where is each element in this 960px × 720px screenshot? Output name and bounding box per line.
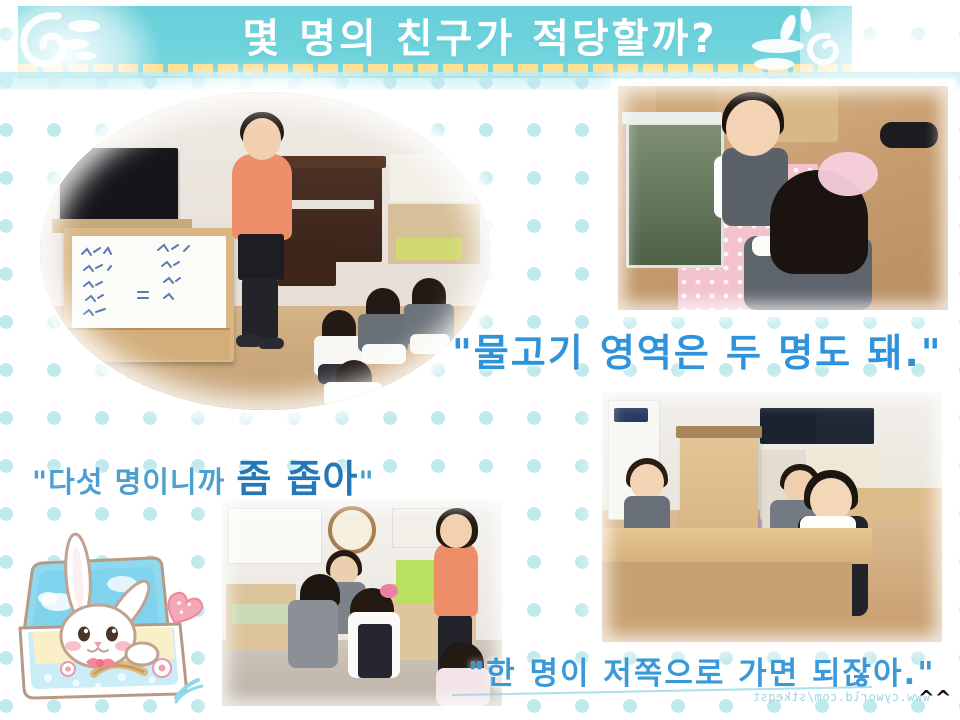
photo-classroom-piano-top (280, 156, 386, 168)
title-banner: 몇 명의 친구가 적당할까? (0, 0, 960, 90)
caption-five-quote-close: " (359, 465, 375, 499)
photo-fishtank-aquarium (626, 122, 724, 268)
photo-classroom-teacher-legs (242, 278, 278, 340)
photo-books-teacher-head (440, 514, 472, 548)
page-canvas: 몇 명의 친구가 적당할까? (0, 0, 960, 720)
photo-classroom-tv (60, 148, 178, 220)
caption-five-part1: "다섯 명이니까 (32, 465, 236, 499)
photo-counter-ac-panel (614, 408, 648, 422)
photo-classroom-whiteboard-base (68, 328, 230, 360)
smiley-icon: ^^ (918, 686, 952, 710)
photo-classroom-piano-keys (290, 200, 374, 209)
photo-counter-countertop (602, 528, 872, 564)
photo-counter-chalkboard (816, 408, 874, 444)
photo-books-teacher-body (434, 542, 478, 616)
photo-books-poster (228, 508, 322, 564)
photo-books (222, 500, 502, 706)
photo-classroom-teacher-body (232, 154, 292, 240)
photo-classroom-shelf-books (396, 238, 462, 260)
page-title: 몇 명의 친구가 적당할까? (0, 8, 960, 70)
photo-books-child-body (288, 600, 338, 668)
bunny-in-suitcase-sticker (2, 528, 222, 714)
photo-counter-counter-front (602, 562, 852, 616)
photo-counter-child-head (630, 464, 664, 500)
photo-classroom-wall-papers (390, 154, 474, 202)
photo-counter (602, 392, 942, 642)
photo-books-hair-bow (380, 584, 398, 598)
photo-classroom-teacher-head (243, 118, 281, 160)
photo-fishtank-adult-shoe (880, 122, 938, 148)
photo-classroom-whiteboard-writing (76, 240, 222, 324)
caption-fish-area: "물고기 영역은 두 명도 돼." (452, 322, 943, 377)
photo-classroom-teacher-skirt (238, 234, 284, 280)
photo-fishtank-aquarium-lid (622, 112, 722, 124)
photo-counter-divider-top (676, 426, 762, 438)
photo-fishtank-hair-bow (818, 152, 878, 196)
photo-fishtank-child-head (726, 100, 780, 156)
watermark-text: www.cyworld.com/stkeqst (700, 690, 930, 708)
photo-books-child-overalls (358, 624, 392, 678)
photo-books-wall-clock (328, 506, 376, 554)
caption-five-emphasis: 좀 좁아 (236, 457, 358, 501)
photo-classroom (40, 92, 490, 410)
photo-fishtank (618, 86, 948, 310)
photo-classroom-teacher-shoe (258, 338, 284, 349)
photo-books-bookshelf-books (232, 604, 290, 624)
photo-counter-side-table (850, 488, 942, 520)
photo-classroom-child (320, 360, 390, 406)
photo-classroom-piano-bench (278, 242, 336, 286)
caption-five-children: "다섯 명이니까 좀 좁아" (32, 448, 375, 503)
